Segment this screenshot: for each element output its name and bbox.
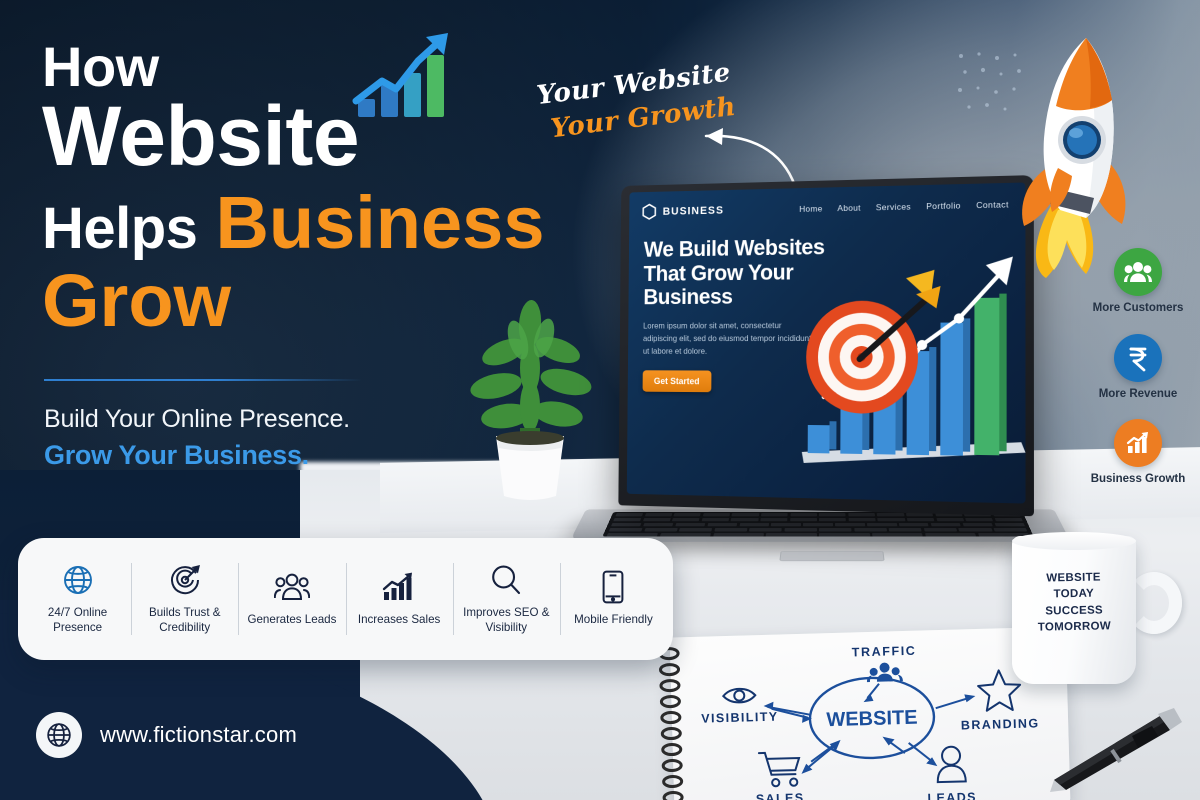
footer: www.fictionstar.com <box>36 712 297 758</box>
feature-bar: 24/7 Online Presence Builds Trust & Cred… <box>18 538 673 660</box>
feature-label: Improves SEO & Visibility <box>453 606 560 636</box>
target-and-bar-chart-graphic <box>794 244 1026 477</box>
benefit-label: More Customers <box>1093 302 1184 316</box>
benefit-more-revenue: More Revenue <box>1078 334 1198 402</box>
mug-text-line-3: SUCCESS <box>1026 602 1122 620</box>
footer-url[interactable]: www.fictionstar.com <box>100 722 297 748</box>
benefit-label: More Revenue <box>1099 388 1178 402</box>
mindmap-node-sales: SALES <box>756 791 805 800</box>
mug-text: WEBSITE TODAY SUCCESS TOMORROW <box>1025 569 1122 636</box>
target-icon <box>169 563 201 597</box>
feature-improves-seo-visibility[interactable]: Improves SEO & Visibility <box>453 557 560 641</box>
feature-builds-trust-credibility[interactable]: Builds Trust & Credibility <box>131 557 238 641</box>
laptop-screen: BUSINESS Home About Services Portfolio C… <box>627 182 1026 503</box>
benefit-more-customers: More Customers <box>1078 248 1198 316</box>
globe-icon <box>36 712 82 758</box>
people-icon <box>1114 248 1162 296</box>
benefit-badge-list: More Customers More Revenue <box>1078 248 1198 505</box>
feature-label: Increases Sales <box>358 613 441 628</box>
website-mindmap-diagram: WEBSITE TRAFFIC VISIBILITY <box>680 629 1065 800</box>
site-brand-name: BUSINESS <box>663 204 724 217</box>
feature-increases-sales[interactable]: Increases Sales <box>346 557 453 641</box>
laptop-lid: BUSINESS Home About Services Portfolio C… <box>618 175 1034 516</box>
headline-business: Business <box>215 180 544 265</box>
feature-label: 24/7 Online Presence <box>24 606 131 636</box>
feature-mobile-friendly[interactable]: Mobile Friendly <box>560 557 667 641</box>
mindmap-node-leads: LEADS <box>927 790 977 800</box>
nav-item-services[interactable]: Services <box>876 201 911 212</box>
laptop-keyboard <box>602 512 1033 537</box>
headline-divider <box>44 379 362 381</box>
mindmap-node-traffic: TRAFFIC <box>852 644 917 660</box>
feature-label: Mobile Friendly <box>574 613 653 628</box>
growth-chart-icon <box>1114 419 1162 467</box>
feature-24-7-online-presence[interactable]: 24/7 Online Presence <box>24 557 131 641</box>
mug-text-line-4: TOMORROW <box>1026 618 1122 636</box>
laptop: BUSINESS Home About Services Portfolio C… <box>500 180 1060 600</box>
mug-text-line-1: WEBSITE <box>1025 569 1121 587</box>
growth-chart-icon <box>348 27 466 127</box>
bar-chart-arrow-icon <box>382 570 416 604</box>
mindmap-node-branding: BRANDING <box>961 716 1040 732</box>
nav-item-about[interactable]: About <box>837 202 861 212</box>
globe-icon <box>62 563 94 597</box>
coffee-mug: WEBSITE TODAY SUCCESS TOMORROW <box>1008 528 1198 696</box>
site-nav-links: Home About Services Portfolio Contact <box>799 199 1009 214</box>
feature-generates-leads[interactable]: Generates Leads <box>238 557 345 641</box>
rocket-icon <box>1000 28 1140 278</box>
site-navbar: BUSINESS Home About Services Portfolio C… <box>629 182 1025 220</box>
get-started-button[interactable]: Get Started <box>643 370 711 392</box>
hexagon-logo-icon <box>642 203 656 220</box>
laptop-trackpad <box>779 551 884 561</box>
mindmap-node-visibility: VISIBILITY <box>701 710 779 726</box>
nav-item-home[interactable]: Home <box>799 203 822 213</box>
nav-item-portfolio[interactable]: Portfolio <box>926 200 961 211</box>
mobile-phone-icon <box>601 570 625 604</box>
benefit-business-growth: Business Growth <box>1078 419 1198 487</box>
mug-text-line-2: TODAY <box>1026 585 1122 603</box>
eye-icon <box>723 688 755 702</box>
person-icon <box>937 746 966 782</box>
subtitle-line-2: Grow Your Business. <box>44 440 350 471</box>
benefit-label: Business Growth <box>1091 473 1186 487</box>
subtitle-block: Build Your Online Presence. Grow Your Bu… <box>44 405 350 471</box>
feature-label: Builds Trust & Credibility <box>131 606 238 636</box>
pen <box>1040 700 1190 792</box>
site-hero-body: Lorem ipsum dolor sit amet, consectetur … <box>643 319 813 359</box>
subtitle-line-1: Build Your Online Presence. <box>44 405 350 434</box>
magnifier-icon <box>490 563 522 597</box>
shopping-cart-icon <box>759 752 800 787</box>
rupee-icon <box>1114 334 1162 382</box>
mindmap-center-label: WEBSITE <box>826 707 918 732</box>
mug-rim <box>1012 532 1136 550</box>
headline-helps: Helps <box>42 201 197 257</box>
poster-canvas: How Website Helps Business Grow Build Yo… <box>0 0 1200 800</box>
people-group-icon <box>274 570 310 604</box>
feature-label: Generates Leads <box>247 613 336 628</box>
site-brand: BUSINESS <box>642 202 724 220</box>
